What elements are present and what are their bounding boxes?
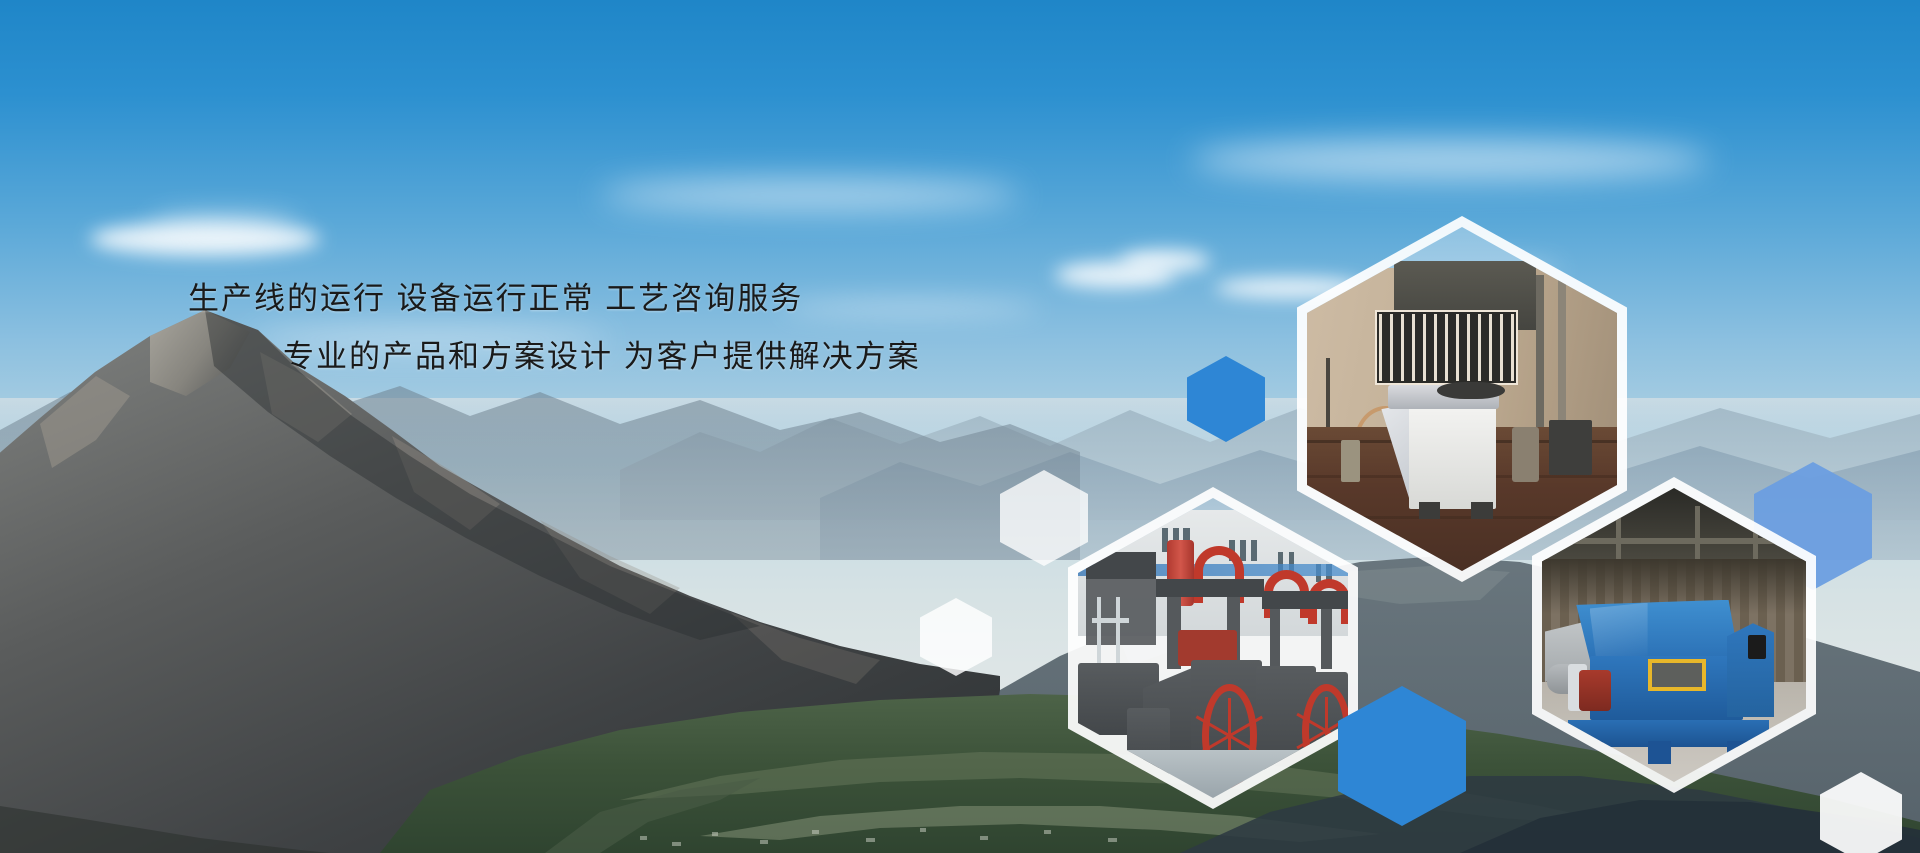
headline-line-1: 生产线的运行 设备运行正常 工艺咨询服务 [188,273,803,318]
headline-line-2: 专业的产品和方案设计 为客户提供解决方案 [283,331,921,376]
banner-stage: 生产线的运行 设备运行正常 工艺咨询服务 专业的产品和方案设计 为客户提供解决方… [0,0,1920,853]
